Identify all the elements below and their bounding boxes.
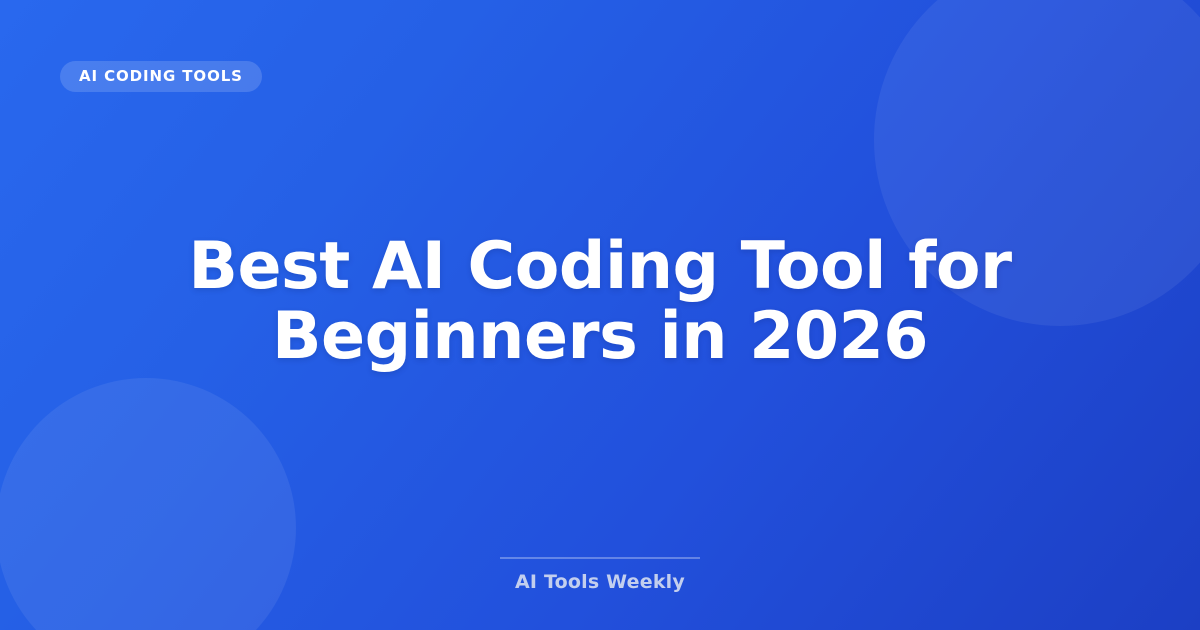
social-share-banner: AI CODING TOOLS Best AI Coding Tool for … (0, 0, 1200, 630)
brand-name: AI Tools Weekly (515, 573, 685, 592)
page-title: Best AI Coding Tool for Beginners in 202… (104, 232, 1096, 372)
category-badge: AI CODING TOOLS (60, 61, 262, 92)
page-title-line-2: in 2026 (659, 299, 928, 374)
footer-block: AI Tools Weekly (0, 557, 1200, 592)
category-badge-label: AI CODING TOOLS (79, 69, 243, 84)
banner-content: AI CODING TOOLS Best AI Coding Tool for … (0, 0, 1200, 630)
footer-divider (500, 557, 700, 559)
headline-block: Best AI Coding Tool for Beginners in 202… (0, 232, 1200, 372)
